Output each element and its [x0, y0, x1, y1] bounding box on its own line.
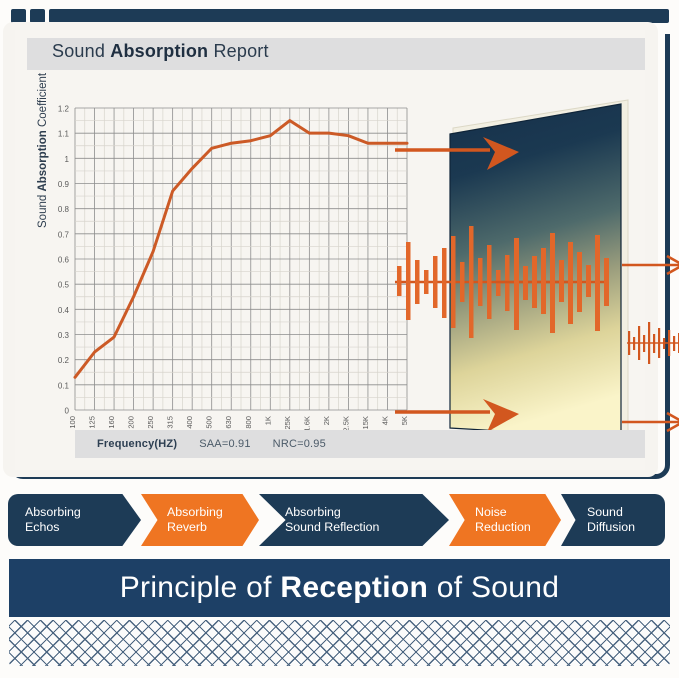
tag-label: Noise Reduction: [475, 505, 531, 534]
feature-tag-4[interactable]: Noise Reduction: [449, 494, 561, 546]
x-tick-label: 4K: [380, 416, 389, 425]
x-tick-label: 250: [146, 416, 155, 429]
y-tick-label: 0.3: [58, 331, 70, 340]
tag-label: Absorbing Reverb: [167, 505, 223, 534]
title-prefix: Sound: [52, 41, 110, 61]
waveform-outgoing: [627, 322, 679, 364]
x-tick-label: 1K: [263, 416, 272, 425]
x-tick-label: 400: [185, 416, 194, 429]
page-title: Sound Absorption Report: [52, 41, 269, 62]
y-tick-label: 0.2: [58, 356, 70, 365]
page-root: Sound Absorption Report Sound Absorption…: [0, 0, 679, 678]
banner-bold: Reception: [280, 571, 428, 604]
y-tick-label: 0: [65, 407, 70, 416]
x-tick-label: 125: [88, 416, 97, 429]
title-suffix: Report: [208, 41, 268, 61]
y-tick-label: 1: [65, 155, 70, 164]
acoustic-panel-illustration: [395, 90, 679, 460]
bottom-banner: Principle of Reception of Sound: [9, 559, 670, 617]
banner-title: Principle of Reception of Sound: [120, 571, 560, 605]
report-card: Sound Absorption Report Sound Absorption…: [3, 22, 658, 477]
absorption-chart: Sound Absorption Coefficient 00.10.20.30…: [27, 100, 417, 450]
x-tick-label: 160: [107, 416, 116, 429]
x-tick-label: 500: [205, 416, 214, 429]
tag-label: Absorbing Sound Reflection: [285, 505, 379, 534]
feature-tag-5[interactable]: Sound Diffusion: [561, 494, 665, 546]
window-title-bar-b: [49, 9, 669, 23]
window-chrome-square-1b: [11, 9, 26, 23]
y-tick-label: 0.9: [58, 180, 70, 189]
window-chrome-square-2b: [30, 9, 45, 23]
feature-tag-2[interactable]: Absorbing Reverb: [141, 494, 259, 546]
x-tick-label: 2K: [322, 416, 331, 425]
y-tick-label: 1.2: [58, 105, 70, 114]
banner-suffix: of Sound: [428, 571, 559, 604]
y-tick-label: 0.1: [58, 381, 70, 390]
feature-tag-1[interactable]: Absorbing Echos: [8, 494, 141, 546]
sound-absorption-report: Sound Absorption Report Sound Absorption…: [15, 30, 645, 470]
x-tick-label: 800: [244, 416, 253, 429]
acoustic-mesh-texture: [9, 620, 670, 666]
tag-label: Absorbing Echos: [25, 505, 81, 534]
y-tick-label: 0.5: [58, 281, 70, 290]
tag-label: Sound Diffusion: [587, 505, 635, 534]
nrc-value: NRC=0.95: [273, 438, 326, 450]
x-tick-label: 315: [166, 416, 175, 429]
y-tick-label: 0.6: [58, 256, 70, 265]
frequency-axis-label: Frequency(HZ): [97, 438, 177, 450]
x-tick-label: 200: [127, 416, 136, 429]
chart-plot-area: 00.10.20.30.40.50.60.70.80.911.11.210012…: [27, 100, 417, 450]
chart-footer: Frequency(HZ) SAA=0.91 NRC=0.95: [75, 430, 645, 458]
banner-prefix: Principle of: [120, 571, 281, 604]
feature-tags: Absorbing EchosAbsorbing ReverbAbsorbing…: [8, 494, 671, 546]
title-bold: Absorption: [110, 41, 208, 61]
x-tick-label: 100: [68, 416, 77, 429]
y-tick-label: 0.8: [58, 205, 70, 214]
saa-value: SAA=0.91: [199, 438, 250, 450]
y-tick-label: 1.1: [58, 130, 70, 139]
x-tick-label: 630: [224, 416, 233, 429]
outgoing-arrow-bottom: [622, 413, 679, 431]
y-tick-label: 0.4: [58, 306, 70, 315]
outgoing-arrow-top: [622, 256, 679, 274]
feature-tag-3[interactable]: Absorbing Sound Reflection: [259, 494, 449, 546]
y-tick-label: 0.7: [58, 230, 70, 239]
